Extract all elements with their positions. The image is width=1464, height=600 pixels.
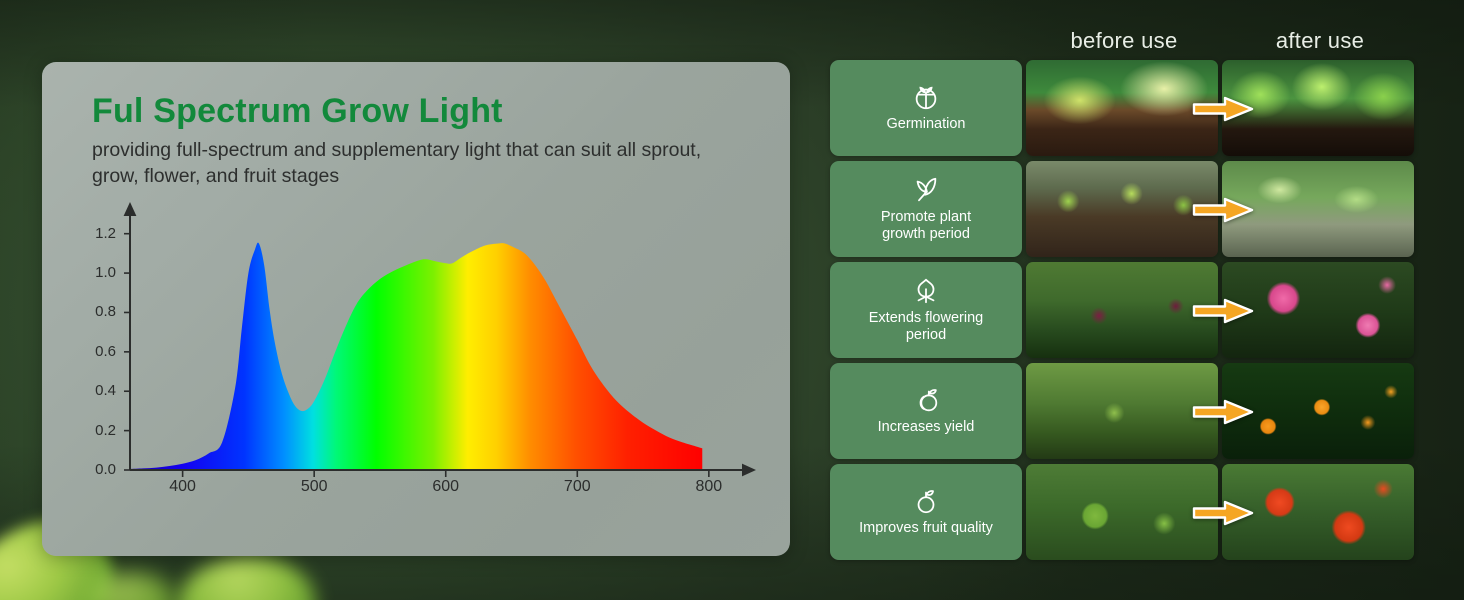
spectrum-panel: Ful Spectrum Grow Light providing full-s… xyxy=(42,62,790,556)
x-tick-label: 700 xyxy=(547,478,607,496)
feature-card-increases-yield[interactable]: Increases yield xyxy=(830,363,1022,459)
right-arrow-icon xyxy=(1192,399,1254,425)
single-fruit-icon xyxy=(911,486,941,516)
photo-image xyxy=(1026,60,1218,156)
feature-grid: GerminationPromote plant growth periodEx… xyxy=(830,60,1422,562)
feature-label: Promote plant growth period xyxy=(875,209,977,243)
photo-before-use xyxy=(1026,60,1218,156)
feature-card-extends-flowering-period[interactable]: Extends flowering period xyxy=(830,262,1022,358)
page-title: Ful Spectrum Grow Light xyxy=(92,92,503,131)
photo-before-use xyxy=(1026,262,1218,358)
y-tick-label: 0.6 xyxy=(74,343,116,360)
feature-label: Increases yield xyxy=(872,419,981,436)
photo-image xyxy=(1026,262,1218,358)
y-tick-label: 0.2 xyxy=(74,422,116,439)
feature-row: Germination xyxy=(830,60,1422,156)
x-tick-label: 600 xyxy=(416,478,476,496)
flower-bloom-icon xyxy=(911,276,941,306)
feature-row: Promote plant growth period xyxy=(830,161,1422,257)
sprout-bud-icon xyxy=(911,82,941,112)
feature-row: Increases yield xyxy=(830,363,1422,459)
y-tick-label: 1.2 xyxy=(74,225,116,242)
feature-row: Improves fruit quality xyxy=(830,464,1422,560)
x-tick-label: 500 xyxy=(284,478,344,496)
column-header-before-use: before use xyxy=(1026,28,1222,54)
x-tick-label: 800 xyxy=(679,478,739,496)
feature-card-promote-plant-growth-period[interactable]: Promote plant growth period xyxy=(830,161,1022,257)
column-header-after-use: after use xyxy=(1222,28,1418,54)
fruit-pair-icon xyxy=(911,385,941,415)
photo-image xyxy=(1026,464,1218,560)
right-arrow-icon xyxy=(1192,197,1254,223)
leaf-growth-icon xyxy=(911,175,941,205)
x-tick-label: 400 xyxy=(153,478,213,496)
x-axis-ticks xyxy=(183,470,709,477)
feature-label: Improves fruit quality xyxy=(853,520,999,537)
spectrum-curve xyxy=(130,243,702,470)
right-arrow-icon xyxy=(1192,298,1254,324)
y-tick-label: 0.8 xyxy=(74,303,116,320)
feature-card-germination[interactable]: Germination xyxy=(830,60,1022,156)
panel-subtitle: providing full-spectrum and supplementar… xyxy=(92,138,742,189)
photo-before-use xyxy=(1026,363,1218,459)
photo-before-use xyxy=(1026,464,1218,560)
spectrum-chart: 0.00.20.40.60.81.01.2 400500600700800 xyxy=(72,200,772,540)
y-tick-label: 1.0 xyxy=(74,264,116,281)
feature-label: Germination xyxy=(881,116,972,133)
feature-card-improves-fruit-quality[interactable]: Improves fruit quality xyxy=(830,464,1022,560)
y-tick-label: 0.0 xyxy=(74,461,116,478)
photo-image xyxy=(1026,363,1218,459)
feature-label: Extends flowering period xyxy=(863,310,989,344)
right-arrow-icon xyxy=(1192,500,1254,526)
photo-before-use xyxy=(1026,161,1218,257)
photo-image xyxy=(1026,161,1218,257)
feature-row: Extends flowering period xyxy=(830,262,1422,358)
y-tick-label: 0.4 xyxy=(74,382,116,399)
right-arrow-icon xyxy=(1192,96,1254,122)
